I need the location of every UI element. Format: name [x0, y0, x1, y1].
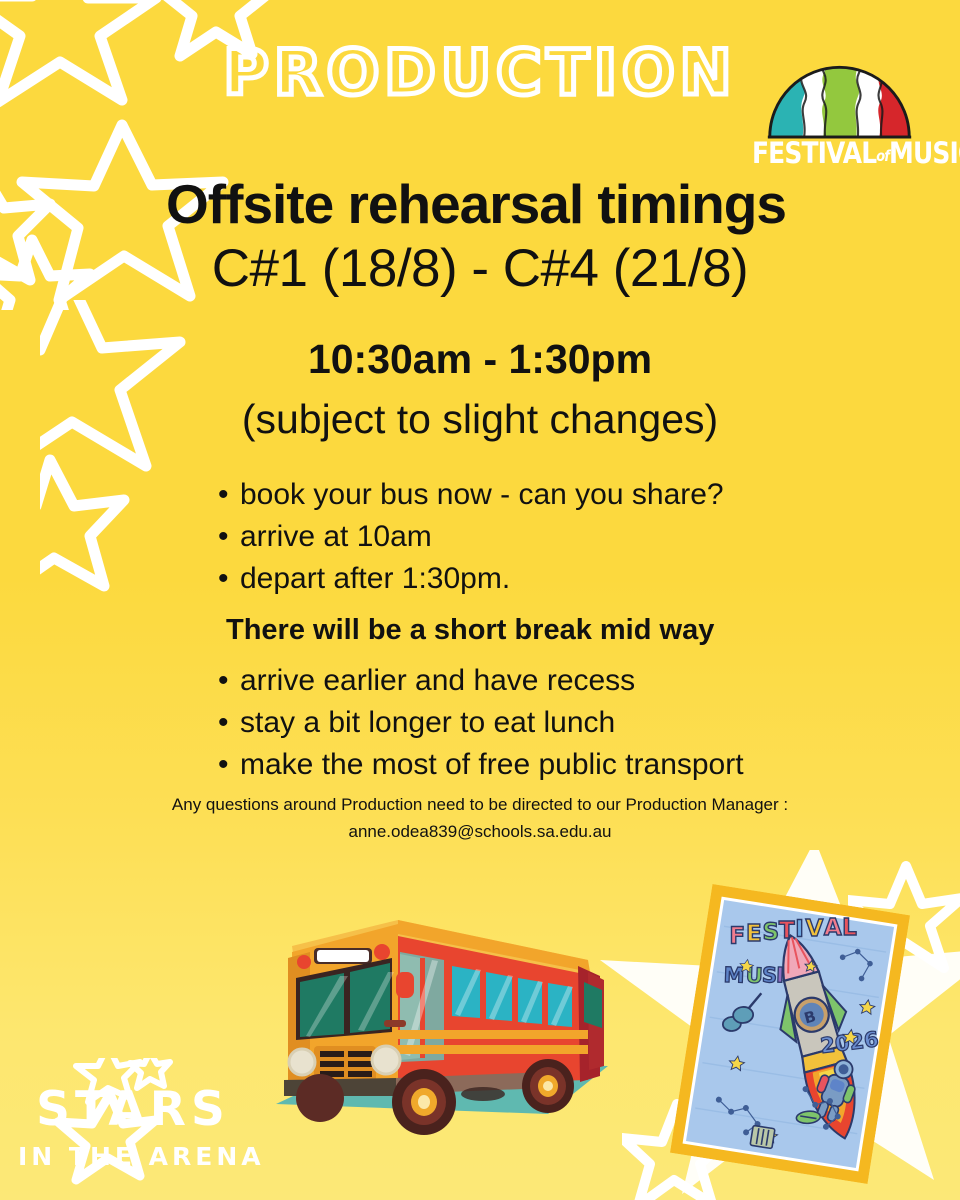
- contact-instruction: Any questions around Production need to …: [0, 791, 960, 818]
- logo-wordmark: FESTIVALofMUSIC: [752, 136, 924, 170]
- svg-text:L: L: [842, 915, 857, 941]
- list-item-label: make the most of free public transport: [240, 744, 858, 786]
- bullet-icon: •: [218, 744, 240, 786]
- list-item: • make the most of free public transport: [218, 744, 858, 786]
- svg-text:M: M: [723, 963, 745, 988]
- list-item-label: arrive at 10am: [240, 516, 858, 558]
- time-range: 10:30am - 1:30pm: [0, 338, 960, 381]
- list-item: • book your bus now - can you share?: [218, 474, 858, 516]
- bullet-icon: •: [218, 474, 240, 516]
- instructions-list: • book your bus now - can you share? • a…: [218, 474, 858, 786]
- logo-word-music: MUSIC: [889, 136, 960, 170]
- bus-icon: [248, 890, 638, 1140]
- production-poster: PRODUCTION: [0, 0, 960, 1200]
- list-item-label: book your bus now - can you share?: [240, 474, 858, 516]
- svg-text:A: A: [824, 915, 842, 941]
- arena-line-1: STARS: [18, 1082, 248, 1137]
- time-note: (subject to slight changes): [0, 398, 960, 441]
- contact-block: Any questions around Production need to …: [0, 791, 960, 845]
- stars-in-the-arena-wordmark: STARS IN THE ARENA: [18, 1058, 268, 1188]
- logo-word-of: of: [876, 147, 889, 165]
- page-title: Offsite rehearsal timings: [0, 176, 960, 234]
- contact-email[interactable]: anne.odea839@schools.sa.edu.au: [0, 818, 960, 845]
- arena-line-1-label: STARS: [36, 1082, 230, 1137]
- program-poster-icon: F E S T I V A L OF M U S I C: [670, 884, 910, 1184]
- arena-line-2: IN THE ARENA: [18, 1142, 262, 1171]
- list-item: • arrive at 10am: [218, 516, 858, 558]
- school-bus-illustration: [248, 890, 638, 1140]
- list-item-label: stay a bit longer to eat lunch: [240, 702, 858, 744]
- svg-text:V: V: [805, 916, 823, 942]
- list-item-label: arrive earlier and have recess: [240, 660, 858, 702]
- bullet-icon: •: [218, 558, 240, 600]
- bullet-icon: •: [218, 702, 240, 744]
- bullet-icon: •: [218, 516, 240, 558]
- svg-text:S: S: [762, 920, 779, 946]
- svg-text:F: F: [729, 923, 745, 949]
- festival-logo-mark-icon: [762, 12, 917, 142]
- logo-word-festival: FESTIVAL: [752, 136, 876, 170]
- bullet-icon: •: [218, 660, 240, 702]
- list-item: • depart after 1:30pm.: [218, 558, 858, 600]
- break-note: There will be a short break mid way: [226, 609, 858, 651]
- festival-of-music-2026-artwork: F E S T I V A L OF M U S I C: [670, 884, 910, 1184]
- list-item-label: depart after 1:30pm.: [240, 558, 858, 600]
- svg-text:E: E: [746, 921, 762, 947]
- list-item: • arrive earlier and have recess: [218, 660, 858, 702]
- list-item: • stay a bit longer to eat lunch: [218, 702, 858, 744]
- page-subtitle: C#1 (18/8) - C#4 (21/8): [0, 241, 960, 297]
- festival-of-music-logo: FESTIVALofMUSIC: [738, 12, 938, 187]
